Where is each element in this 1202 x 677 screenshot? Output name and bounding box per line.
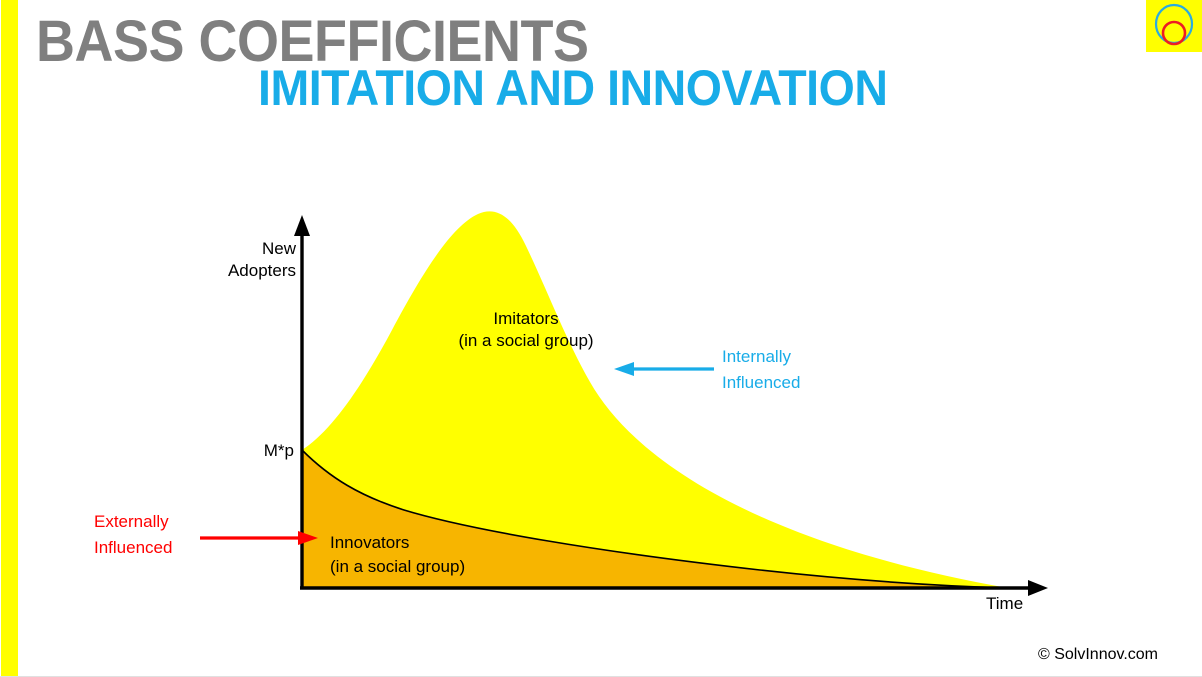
- imitators-label-line2: (in a social group): [458, 331, 593, 350]
- imitators-label-line1: Imitators: [493, 309, 558, 328]
- internally-influenced-line2: Influenced: [722, 373, 800, 392]
- x-axis-label: Time: [986, 593, 1023, 615]
- externally-influenced-annotation: Externally Influenced: [94, 509, 172, 561]
- imitators-area-label: Imitators (in a social group): [418, 308, 634, 352]
- internally-influenced-annotation: Internally Influenced: [722, 344, 800, 396]
- innovators-label-line1: Innovators: [330, 533, 409, 552]
- innovators-area-label: Innovators (in a social group): [330, 531, 465, 579]
- slide-canvas: BASS COEFFICIENTS IMITATION AND INNOVATI…: [0, 0, 1202, 677]
- internally-influenced-arrowhead: [614, 362, 634, 376]
- externally-influenced-line1: Externally: [94, 512, 169, 531]
- copyright-notice: © SolvInnov.com: [1038, 646, 1158, 664]
- y-axis-arrowhead: [294, 215, 310, 236]
- externally-influenced-line2: Influenced: [94, 538, 172, 557]
- y-axis-tick-label-mp: M*p: [236, 440, 294, 462]
- y-axis-label: New Adopters: [196, 238, 296, 282]
- innovators-label-line2: (in a social group): [330, 557, 465, 576]
- x-axis-arrowhead: [1028, 580, 1048, 596]
- internally-influenced-line1: Internally: [722, 347, 791, 366]
